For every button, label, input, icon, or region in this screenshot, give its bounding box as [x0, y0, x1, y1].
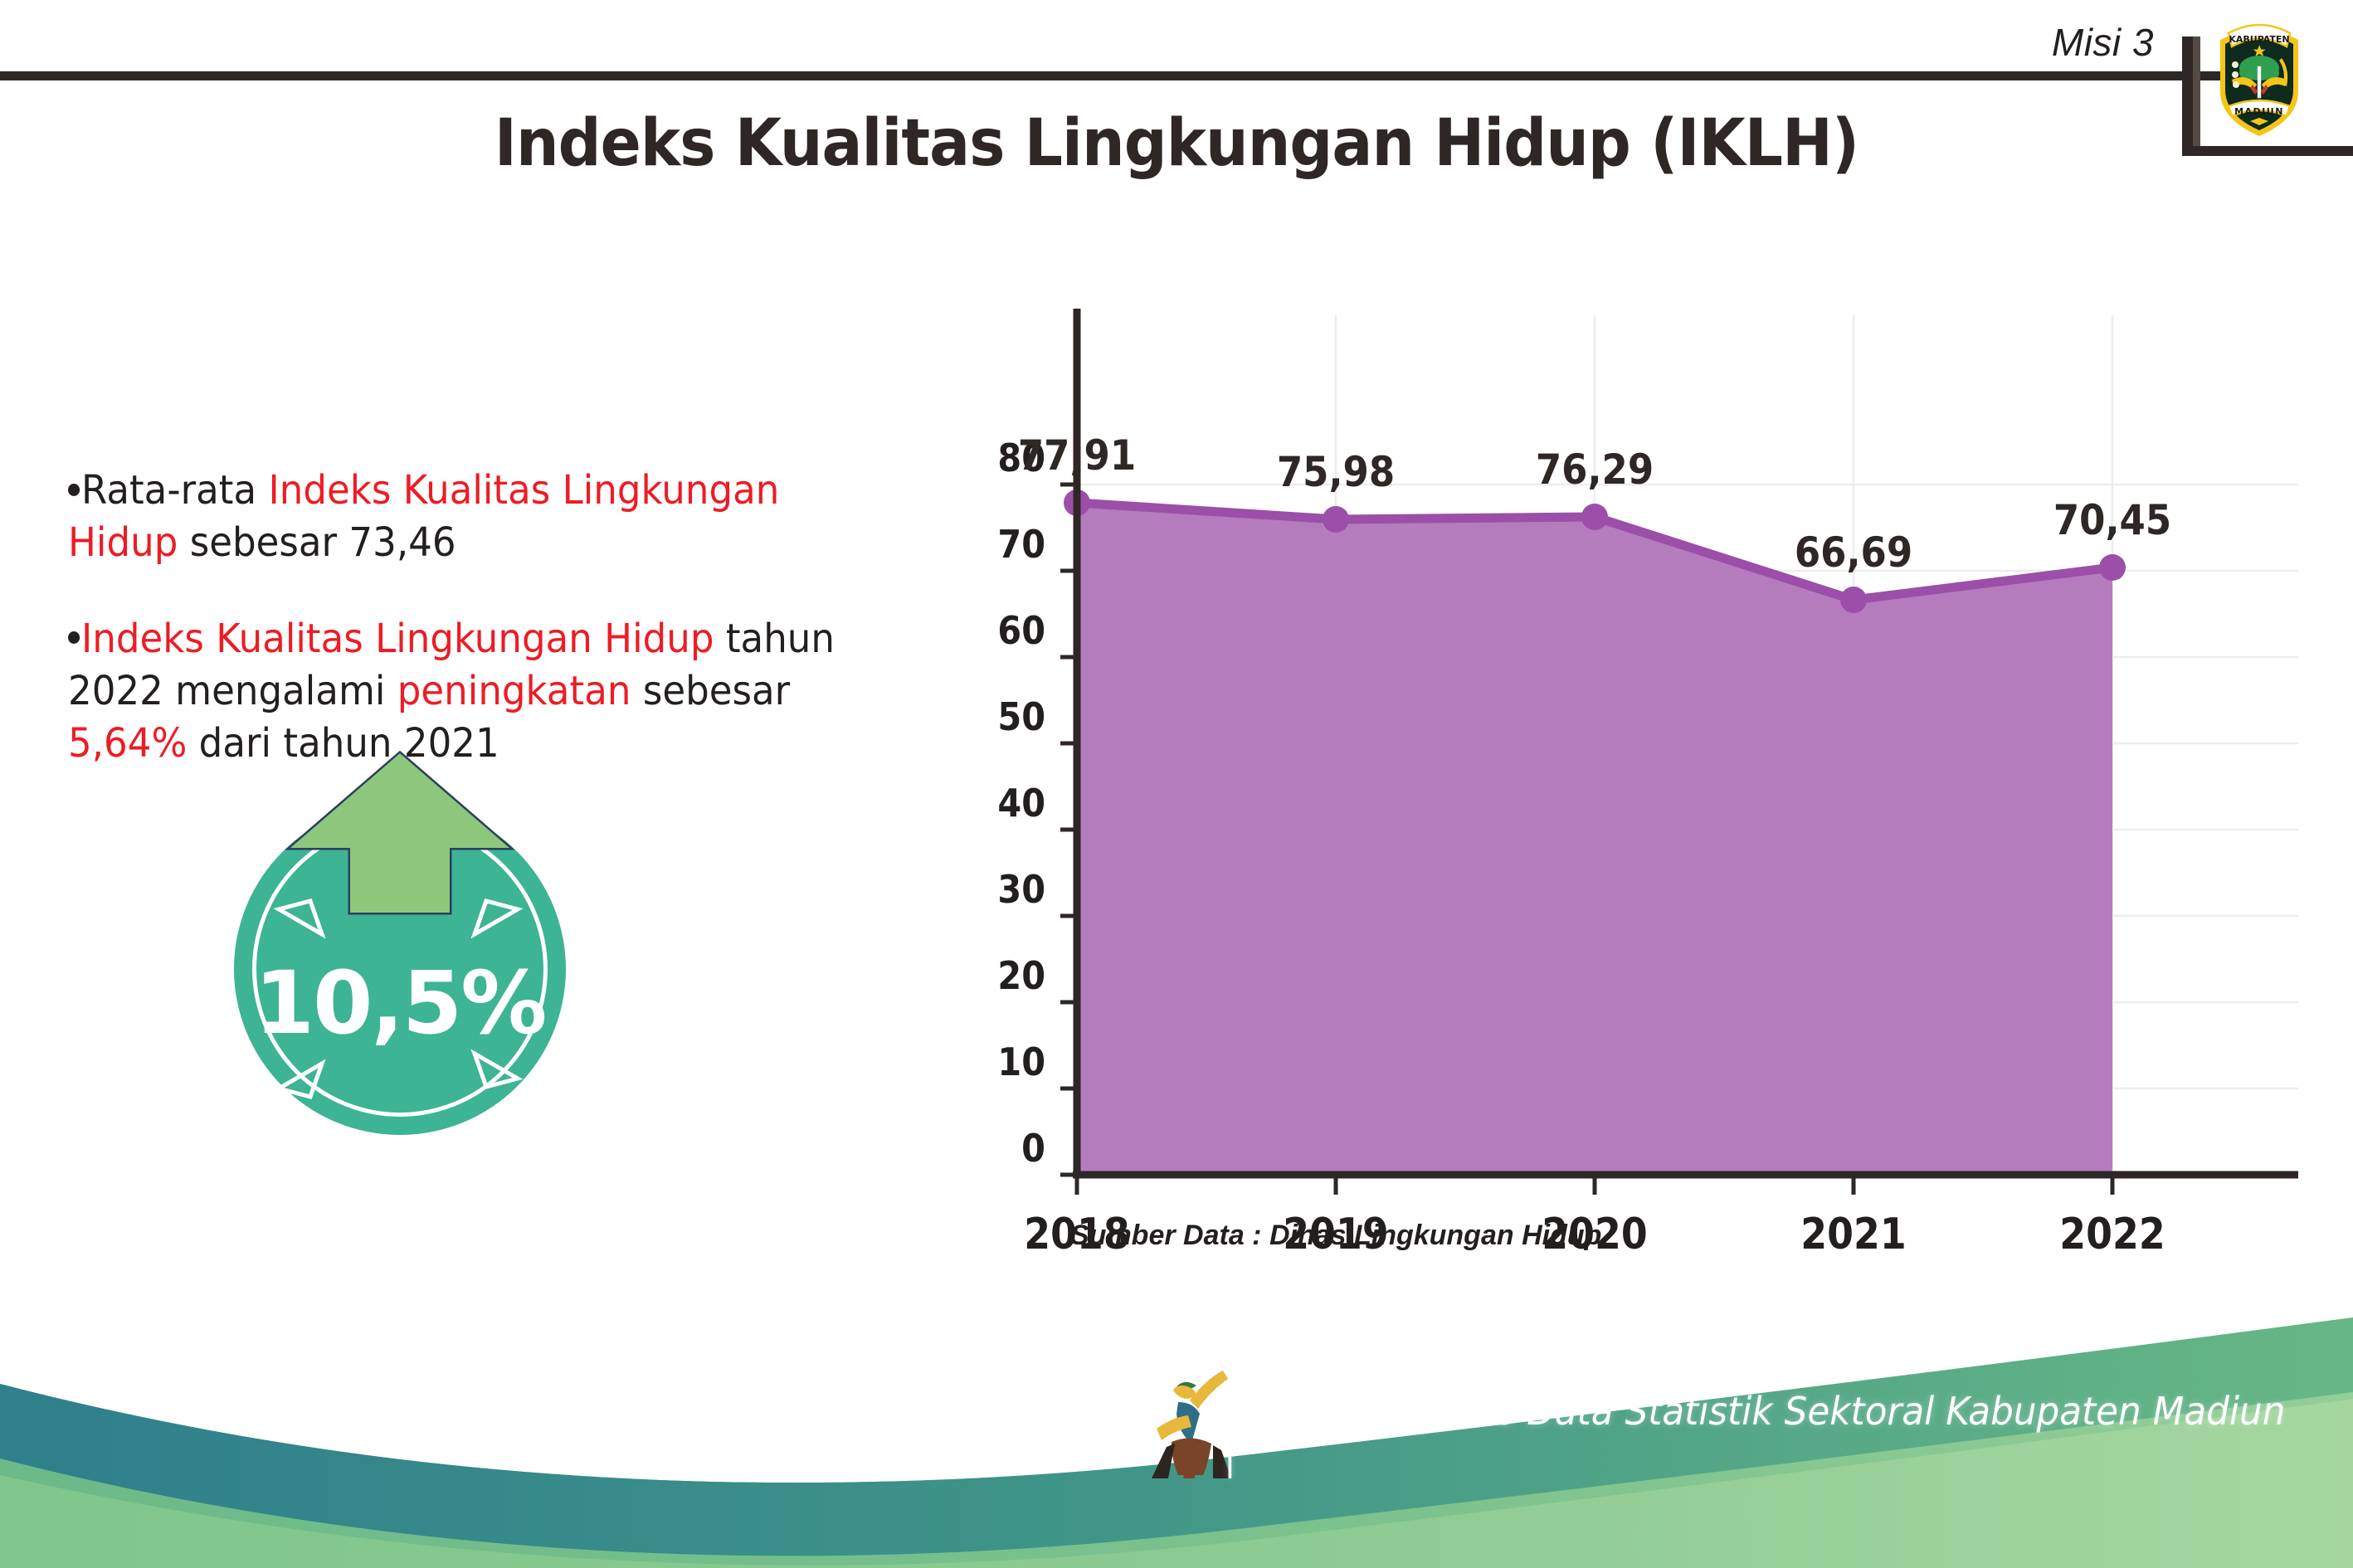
bullet-dot-icon	[68, 631, 80, 644]
y-axis-tick-label: 0	[956, 1126, 1045, 1171]
y-axis-tick-label: 70	[956, 522, 1045, 567]
page-title: Indeks Kualitas Lingkungan Hidup (IKLH)	[82, 106, 2270, 181]
data-label: 66,69	[1764, 528, 1943, 577]
iklh-area-chart: 80 70 60 50 40 30 20 10 0	[954, 274, 2298, 1195]
y-axis-tick-label: 10	[956, 1040, 1045, 1084]
bullet-text-1: Indeks Kualitas Lingkungan Hidup tahun 2…	[68, 616, 835, 767]
y-axis-tick-label: 50	[956, 694, 1045, 739]
bullet-text-0: Rata-rata Indeks Kualitas Lingkungan Hid…	[68, 467, 779, 566]
bullet-segment-highlight: peningkatan	[397, 668, 631, 714]
data-label: 70,45	[2023, 496, 2202, 544]
bullet-segment-highlight: 5,64%	[68, 720, 187, 767]
bullet-segment: sebesar	[631, 668, 790, 714]
bullet-segment: sebesar 73,46	[178, 519, 455, 566]
bullet-list: Rata-rata Indeks Kualitas Lingkungan Hid…	[68, 465, 948, 771]
x-axis-tick-label: 2022	[2032, 1210, 2193, 1259]
badge-tick-bottom-left-icon	[274, 1054, 332, 1103]
y-axis-tick-label: 30	[956, 867, 1045, 912]
chart-plot-area	[954, 274, 2298, 1195]
data-label: 75,98	[1246, 448, 1425, 496]
data-label: 76,29	[1505, 446, 1684, 494]
area-fill	[1077, 503, 2112, 1175]
y-axis-tick-label: 40	[956, 781, 1045, 825]
bullet-dot-icon	[68, 484, 80, 496]
list-item: Rata-rata Indeks Kualitas Lingkungan Hid…	[68, 465, 894, 570]
increase-badge: 10,5%	[234, 747, 582, 1145]
bullet-segment-highlight: Indeks Kualitas Lingkungan Hidup	[81, 616, 714, 662]
x-axis-tick-label: 2021	[1773, 1210, 1934, 1259]
data-label: 77,91	[987, 431, 1167, 480]
bullet-segment: Rata-rata	[81, 467, 269, 514]
footer-text: Media Infografis Data Statistik Sektoral…	[1224, 1389, 2297, 1478]
svg-text:KABUPATEN: KABUPATEN	[2229, 34, 2289, 45]
header-divider-line	[0, 71, 2237, 80]
misi-label: Misi 3	[2052, 20, 2154, 65]
badge-value: 10,5%	[234, 952, 566, 1054]
y-axis-tick-label: 60	[956, 608, 1045, 653]
y-axis-tick-label: 20	[956, 953, 1045, 998]
chart-source-note: Sumber Data : Dinas Lingkungan Hidup	[1070, 1220, 1601, 1252]
